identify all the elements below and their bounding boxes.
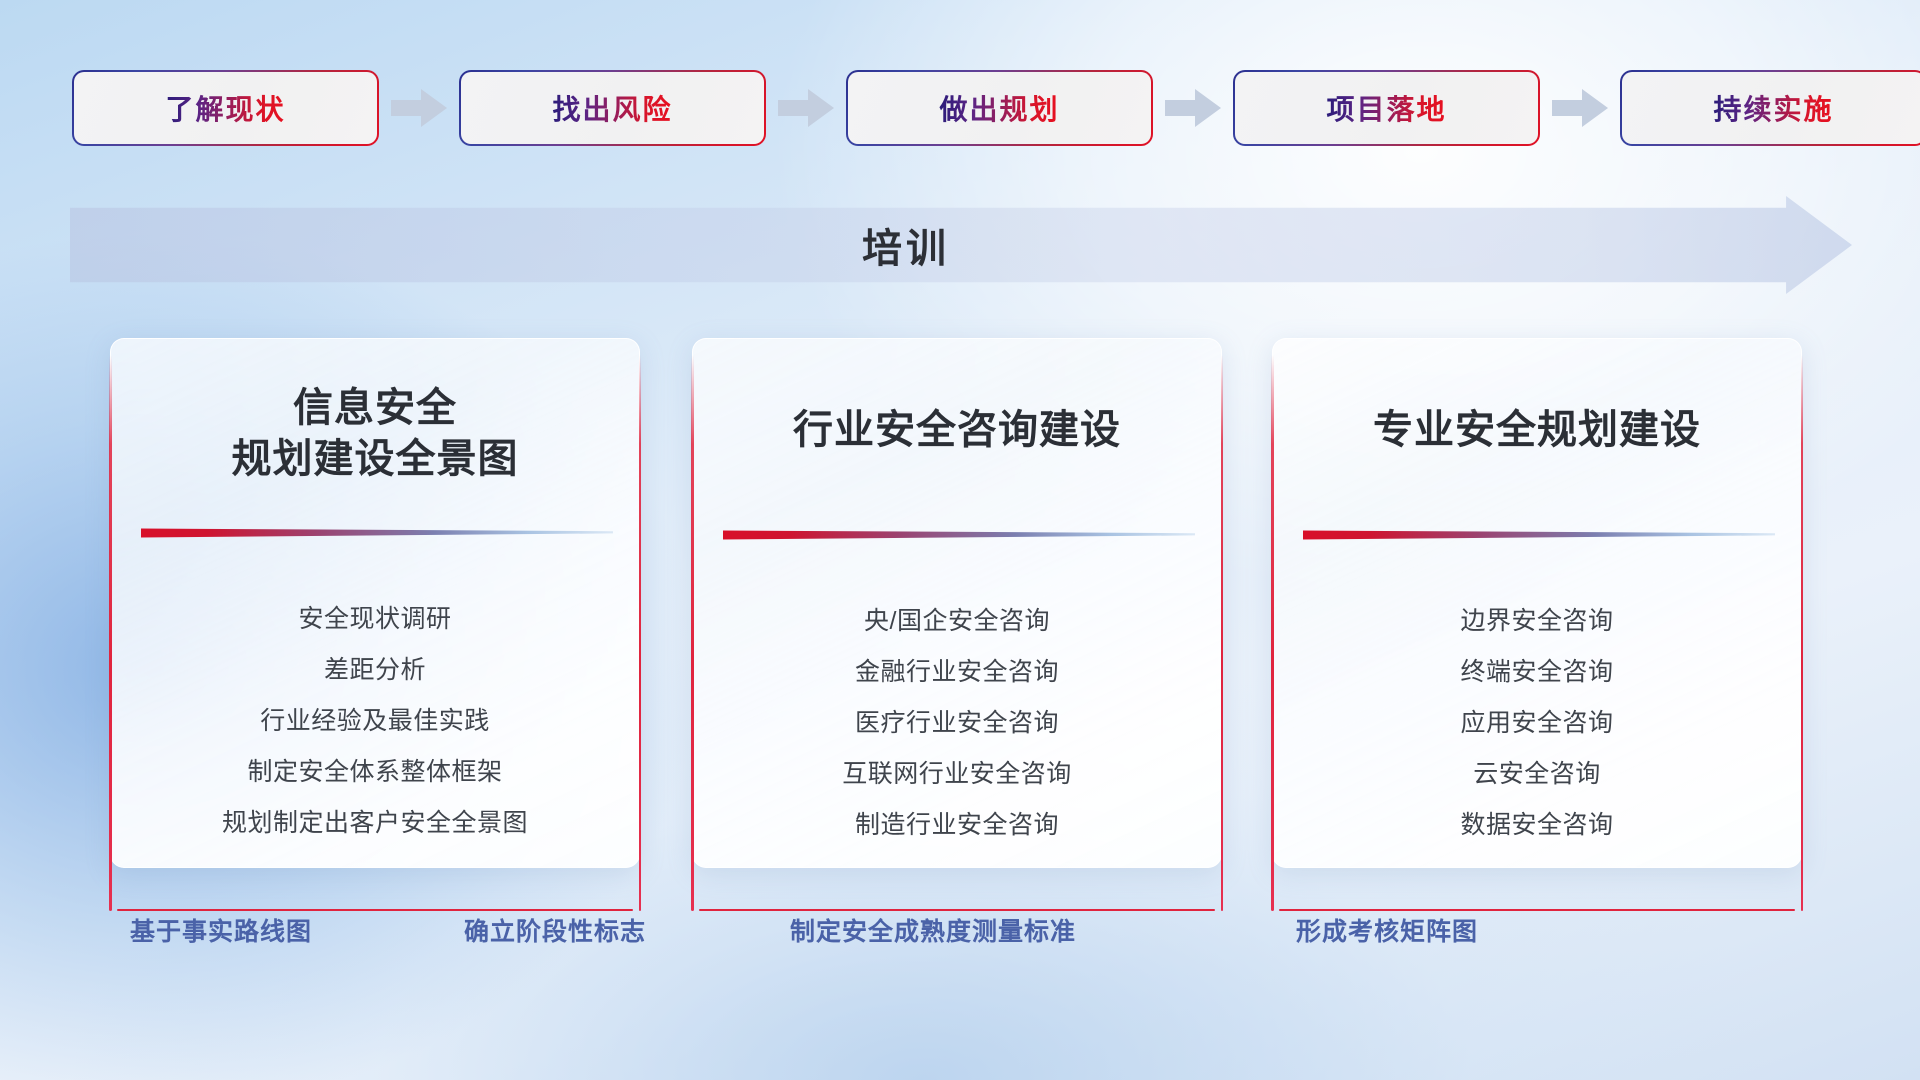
card-industry-security-consulting[interactable]: 行业安全咨询建设 xyxy=(692,338,1222,868)
step-box-2[interactable]: 找出风险 xyxy=(461,72,764,144)
step-box-1[interactable]: 了解现状 xyxy=(74,72,377,144)
card-row: 信息安全 规划建设全景图 xyxy=(0,332,1920,874)
card-professional-security-planning[interactable]: 专业安全规划建设 xyxy=(1272,338,1802,868)
list-item: 行业经验及最佳实践 xyxy=(111,709,639,734)
list-item: 央/国企安全咨询 xyxy=(693,609,1221,634)
card-list: 央/国企安全咨询 金融行业安全咨询 医疗行业安全咨询 互联网行业安全咨询 制造行… xyxy=(693,609,1221,838)
step-label: 做出规划 xyxy=(939,88,1059,128)
step-label: 了解现状 xyxy=(165,88,285,128)
card-title: 行业安全咨询建设 xyxy=(693,405,1221,456)
step-box-3[interactable]: 做出规划 xyxy=(848,72,1151,144)
arrow-right-icon xyxy=(1163,88,1223,128)
list-item: 制定安全体系整体框架 xyxy=(111,760,639,785)
arrow-right-icon xyxy=(1550,88,1610,128)
card-list: 安全现状调研 差距分析 行业经验及最佳实践 制定安全体系整体框架 规划制定出客户… xyxy=(111,607,639,836)
footnote-label: 制定安全成熟度测量标准 xyxy=(790,912,1076,948)
footnote-row: 基于事实路线图 确立阶段性标志 制定安全成熟度测量标准 形成考核矩阵图 xyxy=(0,912,1920,972)
list-item: 应用安全咨询 xyxy=(1273,711,1801,736)
training-banner: 培训 xyxy=(70,196,1852,294)
arrow-right-icon xyxy=(776,88,836,128)
card-divider xyxy=(141,527,613,539)
list-item: 金融行业安全咨询 xyxy=(693,660,1221,685)
card-information-security[interactable]: 信息安全 规划建设全景图 xyxy=(110,338,640,868)
card-divider xyxy=(723,529,1195,541)
card-bottom-accent xyxy=(1279,909,1795,912)
card-divider xyxy=(1303,529,1775,541)
card-title: 专业安全规划建设 xyxy=(1273,405,1801,456)
list-item: 制造行业安全咨询 xyxy=(693,813,1221,838)
card-list: 边界安全咨询 终端安全咨询 应用安全咨询 云安全咨询 数据安全咨询 xyxy=(1273,609,1801,838)
list-item: 终端安全咨询 xyxy=(1273,660,1801,685)
step-label: 持续实施 xyxy=(1713,88,1833,128)
card-bottom-accent xyxy=(699,909,1215,912)
list-item: 边界安全咨询 xyxy=(1273,609,1801,634)
arrow-right-icon xyxy=(389,88,449,128)
list-item: 云安全咨询 xyxy=(1273,762,1801,787)
list-item: 规划制定出客户安全全景图 xyxy=(111,811,639,836)
list-item: 安全现状调研 xyxy=(111,607,639,632)
step-label: 项目落地 xyxy=(1326,88,1446,128)
list-item: 互联网行业安全咨询 xyxy=(693,762,1221,787)
step-label: 找出风险 xyxy=(552,88,672,128)
card-title: 信息安全 规划建设全景图 xyxy=(111,383,639,485)
list-item: 数据安全咨询 xyxy=(1273,813,1801,838)
footnote-label: 形成考核矩阵图 xyxy=(1296,912,1478,948)
footnote-label: 基于事实路线图 xyxy=(130,912,312,948)
step-box-5[interactable]: 持续实施 xyxy=(1622,72,1920,144)
step-box-4[interactable]: 项目落地 xyxy=(1235,72,1538,144)
process-steps: 了解现状 找出风险 做出规划 项目落地 xyxy=(0,66,1920,150)
list-item: 差距分析 xyxy=(111,658,639,683)
slide-canvas: 了解现状 找出风险 做出规划 项目落地 xyxy=(0,0,1920,1080)
list-item: 医疗行业安全咨询 xyxy=(693,711,1221,736)
banner-label: 培训 xyxy=(70,196,1742,294)
footnote-label: 确立阶段性标志 xyxy=(464,912,646,948)
card-bottom-accent xyxy=(117,909,633,912)
